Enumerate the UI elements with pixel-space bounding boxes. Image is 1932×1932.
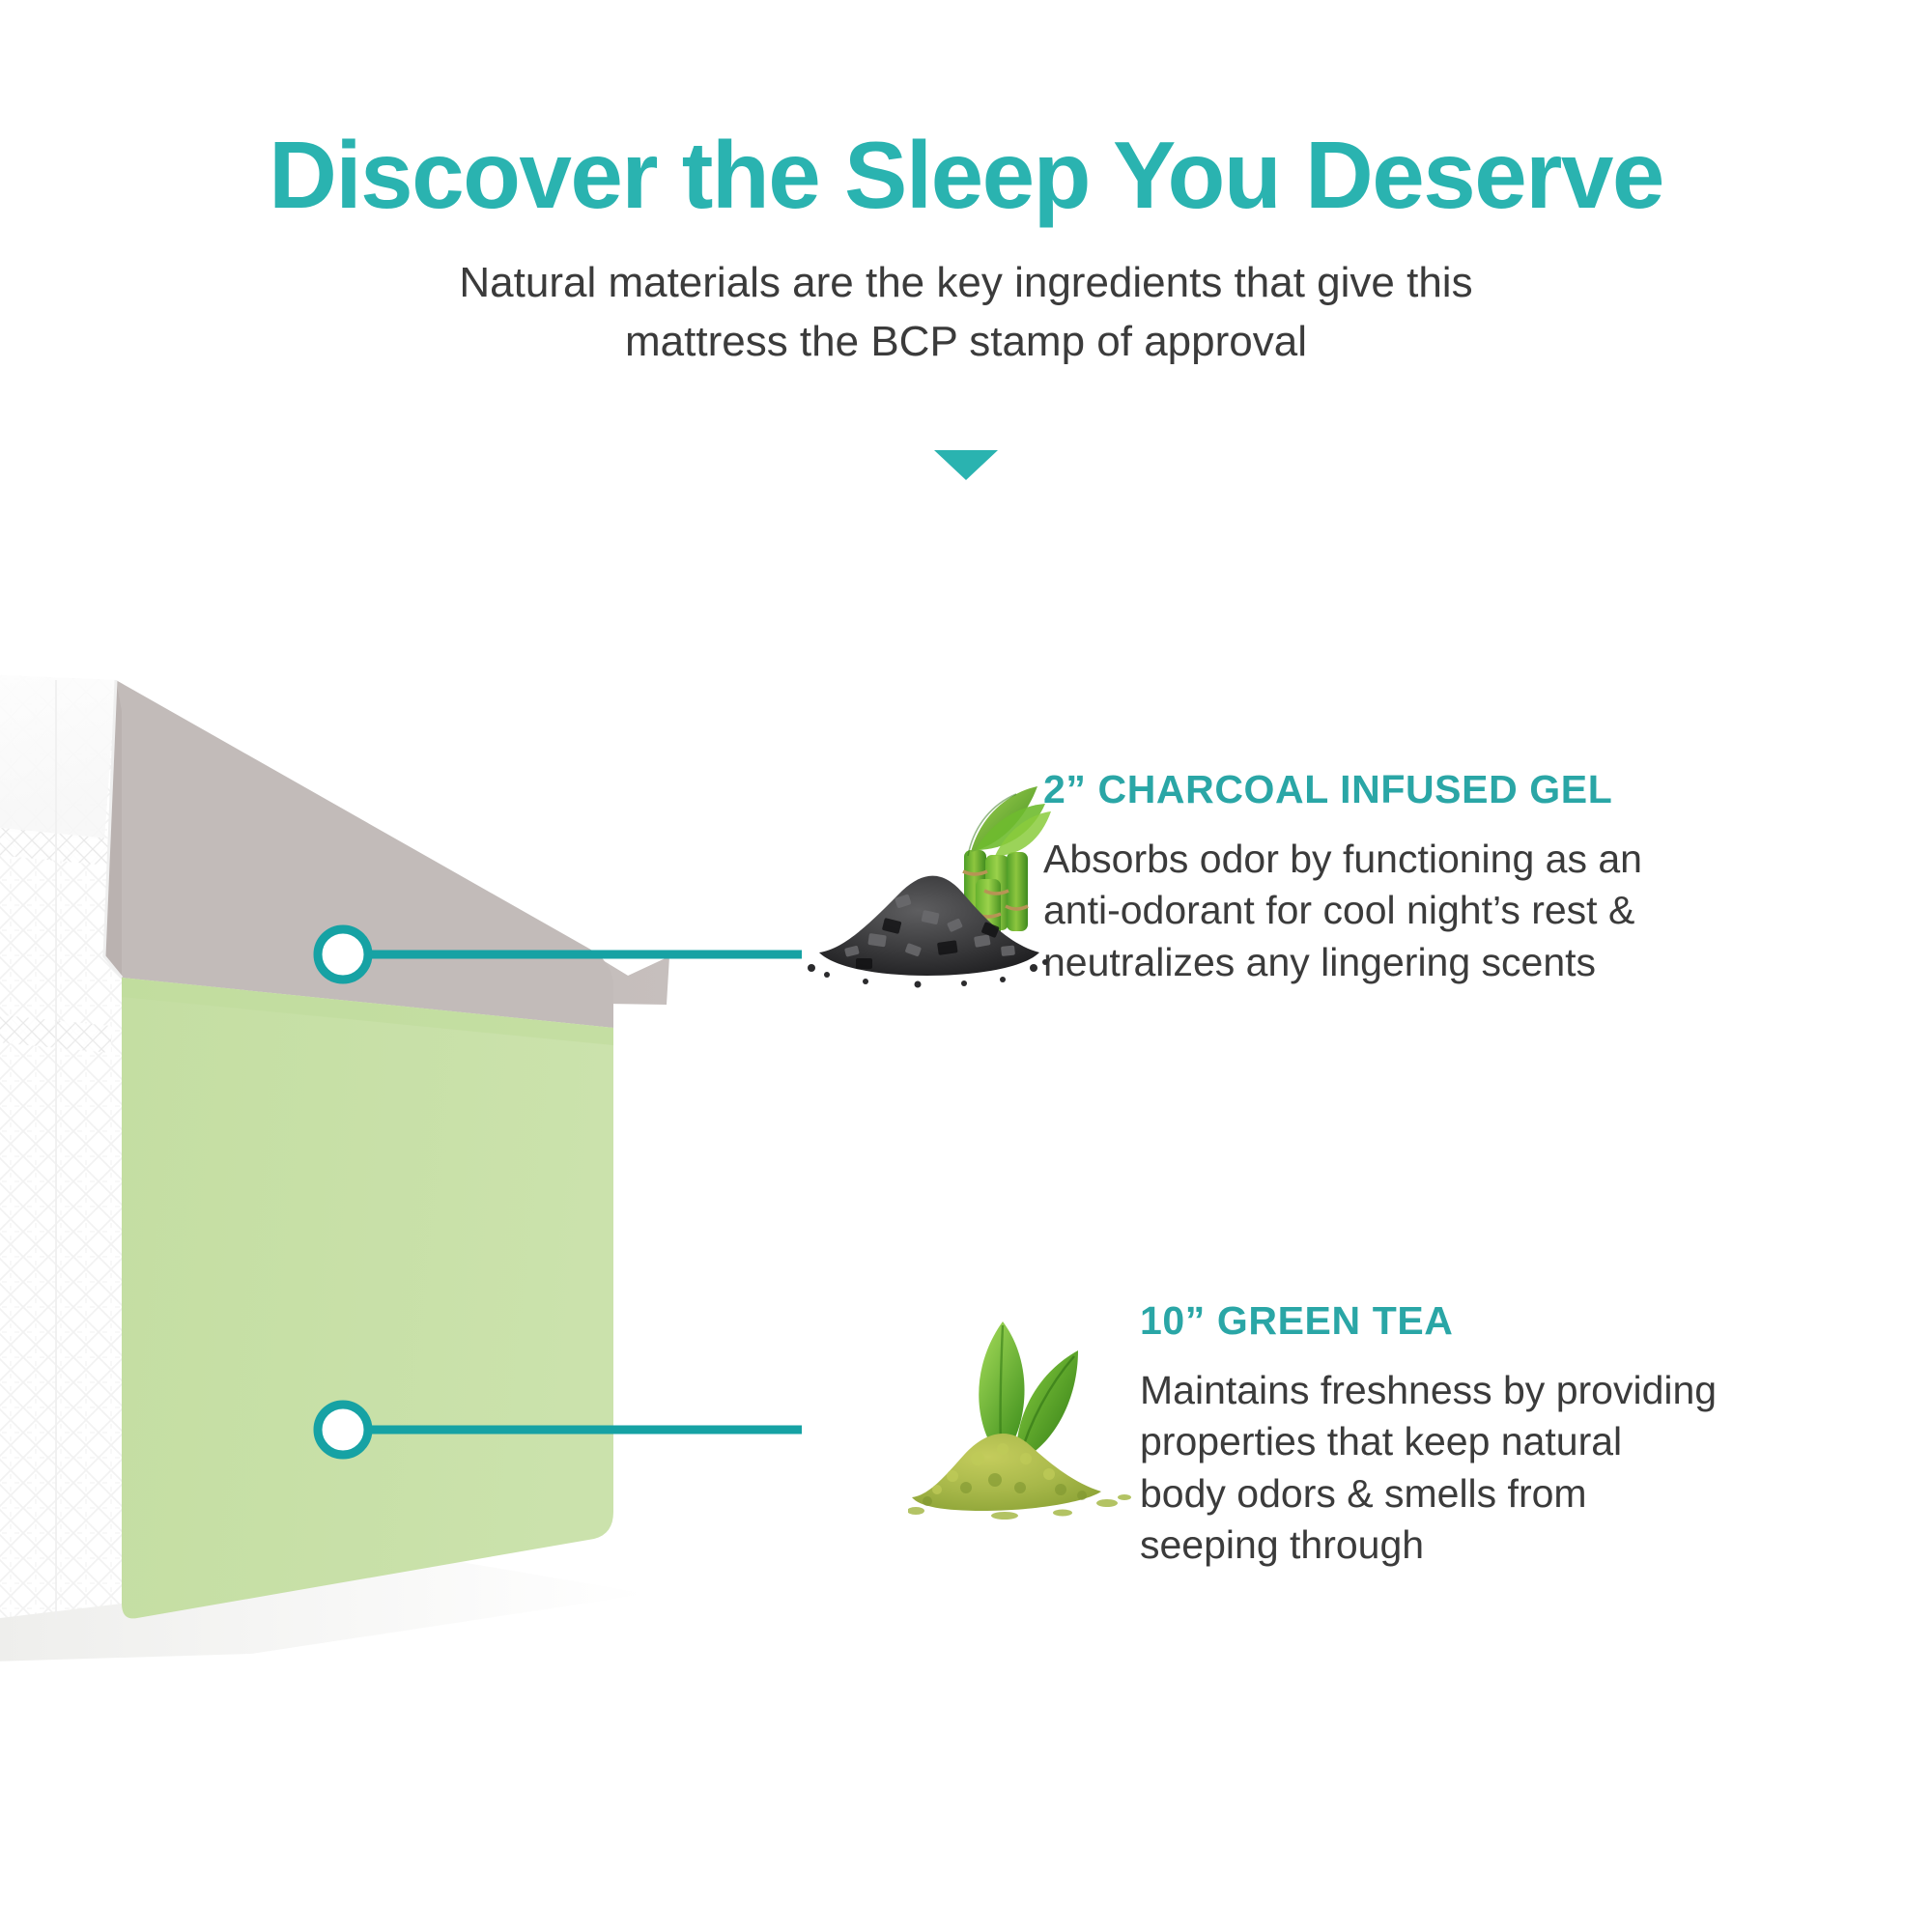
charcoal-marker (318, 929, 368, 980)
charcoal-body-line-2: anti-odorant for cool night’s rest & (1043, 885, 1884, 936)
mattress-cover-top-sheen (0, 667, 116, 840)
green-tea-marker (318, 1405, 368, 1455)
greentea-callout-text: 10” GREEN TEA Maintains freshness by pro… (1140, 1294, 1884, 1571)
mattress-illustration (0, 667, 802, 1690)
greentea-callout-body: Maintains freshness by providing propert… (1140, 1365, 1884, 1571)
subtitle-line-1: Natural materials are the key ingredient… (0, 254, 1932, 313)
charcoal-callout-heading: 2” CHARCOAL INFUSED GEL (1043, 767, 1884, 812)
charcoal-callout-text: 2” CHARCOAL INFUSED GEL Absorbs odor by … (1043, 763, 1884, 988)
callout-charcoal: 2” CHARCOAL INFUSED GEL Absorbs odor by … (802, 763, 1884, 1005)
charcoal-body-line-3: neutralizes any lingering scents (1043, 937, 1884, 988)
page-title: Discover the Sleep You Deserve (0, 126, 1932, 225)
subtitle: Natural materials are the key ingredient… (0, 254, 1932, 371)
callout-greentea: 10” GREEN TEA Maintains freshness by pro… (908, 1294, 1884, 1571)
header: Discover the Sleep You Deserve Natural m… (0, 0, 1932, 371)
charcoal-body-line-1: Absorbs odor by functioning as an (1043, 834, 1884, 885)
green-tea-powder-icon (908, 1304, 1150, 1555)
subtitle-line-2: mattress the BCP stamp of approval (0, 313, 1932, 372)
matcha-powder-mound (908, 1434, 1131, 1520)
green-tea-layer (122, 978, 613, 1618)
greentea-body-line-3: body odors & smells from (1140, 1468, 1884, 1520)
greentea-callout-heading: 10” GREEN TEA (1140, 1298, 1884, 1344)
charcoal-callout-body: Absorbs odor by functioning as an anti-o… (1043, 834, 1884, 988)
down-arrow-container (0, 450, 1932, 485)
greentea-body-line-2: properties that keep natural (1140, 1416, 1884, 1467)
charcoal-bamboo-icon (802, 763, 1053, 1005)
chevron-down-icon (934, 450, 998, 480)
greentea-body-line-1: Maintains freshness by providing (1140, 1365, 1884, 1416)
bamboo-leaves (968, 786, 1051, 856)
greentea-body-line-4: seeping through (1140, 1520, 1884, 1571)
